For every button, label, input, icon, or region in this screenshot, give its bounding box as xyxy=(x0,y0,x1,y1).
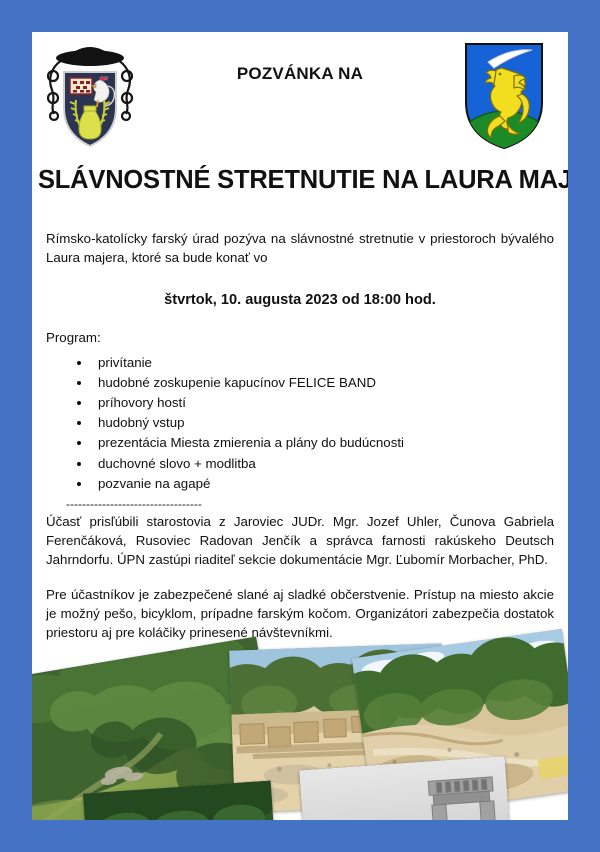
list-item: príhovory hostí xyxy=(92,393,554,413)
poster-title: SLÁVNOSTNÉ STRETNUTIE NA LAURA MAJERI xyxy=(38,166,562,195)
list-item: prezentácia Miesta zmierenia a plány do … xyxy=(92,433,554,453)
list-item: duchovné slovo + modlitba xyxy=(92,454,554,474)
event-date-line: štvrtok, 10. augusta 2023 od 18:00 hod. xyxy=(46,292,554,308)
list-item: hudobné zoskupenie kapucínov FELICE BAND xyxy=(92,373,554,393)
poster-body: Rímsko-katolícky farský úrad pozýva na s… xyxy=(32,229,568,643)
parish-coat-of-arms-icon xyxy=(38,36,142,160)
poster-header: POZVÁNKA NA xyxy=(32,32,568,164)
intro-paragraph: Rímsko-katolícky farský úrad pozýva na s… xyxy=(46,229,554,268)
program-list: privítanie hudobné zoskupenie kapucínov … xyxy=(46,353,554,494)
poster-page: POZVÁNKA NA xyxy=(32,32,568,820)
guests-paragraph: Účasť prisľúbili starostovia z Jaroviec … xyxy=(46,512,554,570)
list-item: pozvanie na agapé xyxy=(92,474,554,494)
poster-canvas: POZVÁNKA NA xyxy=(0,0,600,852)
section-separator: ---------------------------------- xyxy=(66,498,554,510)
list-item: hudobný vstup xyxy=(92,413,554,433)
photo-collage xyxy=(32,651,568,820)
info-paragraph: Pre účastníkov je zabezpečené slané aj s… xyxy=(46,585,554,643)
program-label: Program: xyxy=(46,330,554,345)
municipal-coat-of-arms-icon xyxy=(456,38,552,154)
list-item: privítanie xyxy=(92,353,554,373)
